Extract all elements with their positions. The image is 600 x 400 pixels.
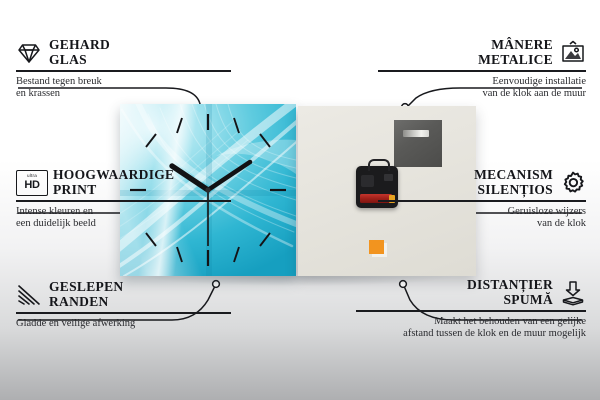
divider [378, 200, 586, 202]
beveled-edge-icon [16, 282, 42, 308]
gear-icon [560, 170, 586, 196]
feature-mecanism-silentios: MECANISM SILENȚIOS Geruisloze wijzers va… [378, 168, 586, 231]
feature-head: GESLEPEN RANDEN [16, 280, 231, 309]
divider [16, 312, 231, 314]
hd-icon-main-text: HD [24, 180, 39, 191]
feature-subtitle: Gladde en veilige afwerking [16, 318, 231, 331]
feature-subtitle: Intense kleuren en een duidelijk beeld [16, 206, 231, 231]
feature-title: MECANISM SILENȚIOS [474, 168, 553, 197]
ultra-hd-icon: ultra HD [16, 170, 46, 196]
spacer-press-icon [560, 280, 586, 306]
hanger-slot [403, 130, 429, 137]
feature-subtitle: Bestand tegen breuk en krassen [16, 76, 231, 101]
feature-head: MECANISM SILENȚIOS [378, 168, 586, 197]
feature-subtitle: Eenvoudige installatie van de klok aan d… [378, 76, 586, 101]
feature-title: GESLEPEN RANDEN [49, 280, 123, 309]
feature-hoogwaardige-print: ultra HD HOOGWAARDIGE PRINT Intense kleu… [16, 168, 231, 231]
feature-subtitle: Maakt het behouden van een gelijke afsta… [356, 316, 586, 341]
feature-title: GEHARD GLAS [49, 38, 110, 67]
feature-title: MÂNERE METALICE [478, 38, 553, 67]
foam-spacer [369, 240, 384, 254]
mechanism-detail [361, 175, 374, 187]
divider [16, 70, 231, 72]
feature-subtitle: Geruisloze wijzers van de klok [378, 206, 586, 231]
diamond-icon [16, 40, 42, 66]
feature-head: MÂNERE METALICE [378, 38, 586, 67]
feature-head: GEHARD GLAS [16, 38, 231, 67]
divider [378, 70, 586, 72]
divider [16, 200, 231, 202]
feature-head: DISTANȚIER SPUMĂ [356, 278, 586, 307]
metal-hanger-plate [394, 120, 442, 167]
wall-mount-picture-icon [560, 40, 586, 66]
feature-title: HOOGWAARDIGE PRINT [53, 168, 174, 197]
feature-manere-metalice: MÂNERE METALICE Eenvoudige installatie v… [378, 38, 586, 101]
feature-gehard-glas: GEHARD GLAS Bestand tegen breuk en krass… [16, 38, 231, 101]
feature-title: DISTANȚIER SPUMĂ [467, 278, 553, 307]
divider [356, 310, 586, 312]
feature-head: ultra HD HOOGWAARDIGE PRINT [16, 168, 231, 197]
feature-geslepen-randen: GESLEPEN RANDEN Gladde en veilige afwerk… [16, 280, 231, 330]
infographic-stage: GEHARD GLAS Bestand tegen breuk en krass… [0, 0, 600, 400]
feature-distantier-spuma: DISTANȚIER SPUMĂ Maakt het behouden van … [356, 278, 586, 341]
